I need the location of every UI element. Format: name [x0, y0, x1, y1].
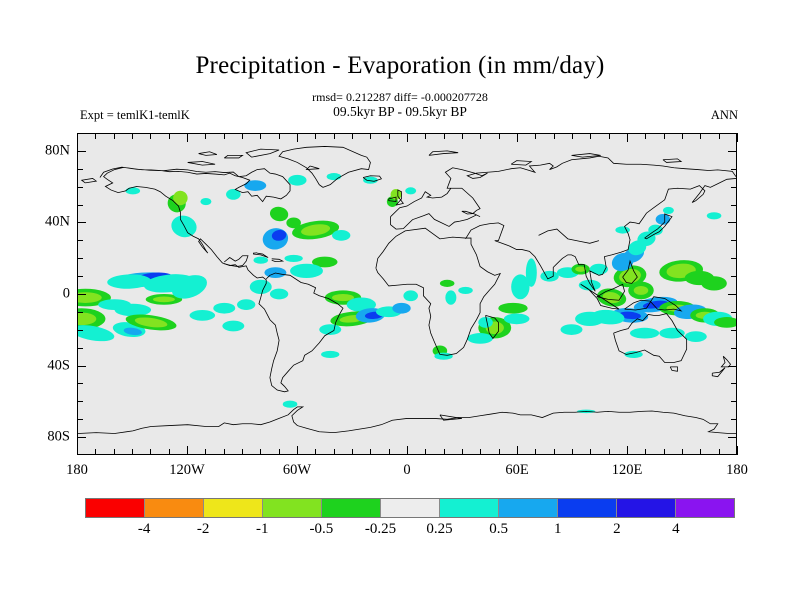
map-plot-area [77, 133, 737, 455]
chart-title: Precipitation - Evaporation (in mm/day) [0, 52, 800, 80]
colorbar-band-10 [675, 499, 734, 517]
x-axis-label-0: 0 [403, 462, 410, 479]
anomaly-contour-region [213, 303, 235, 314]
y-tick-right [731, 330, 737, 331]
coastline-segment [511, 161, 531, 165]
anomaly-contour-region [458, 287, 473, 294]
anomaly-contour-region [701, 276, 727, 290]
coastline-segment [246, 149, 279, 157]
colorbar-band-6 [439, 499, 498, 517]
anomaly-contour-region [685, 331, 707, 342]
x-tick-top [169, 133, 170, 139]
coastline-segment [429, 151, 458, 155]
x-tick-bottom [224, 449, 225, 455]
anomaly-contour-region [270, 289, 288, 300]
y-axis-label-40N: 40N [28, 214, 70, 231]
x-tick-bottom [590, 449, 591, 455]
x-tick-top [297, 133, 298, 142]
x-tick-top [279, 133, 280, 139]
anomaly-contour-region [504, 313, 530, 324]
x-tick-bottom [389, 449, 390, 455]
anomaly-contour-region [467, 333, 493, 344]
x-tick-top [352, 133, 353, 139]
y-tick-right [728, 222, 737, 223]
x-tick-bottom [315, 449, 316, 455]
x-axis-label-120W: 120W [169, 462, 204, 479]
y-tick-right [731, 205, 737, 206]
coastline-segment [224, 155, 242, 158]
x-tick-bottom [627, 446, 628, 455]
world-map-svg [78, 134, 736, 454]
anomaly-contour-region [403, 290, 418, 301]
y-tick-right [731, 401, 737, 402]
x-tick-top [682, 133, 683, 139]
colorbar-tick-1: 1 [554, 521, 562, 538]
anomaly-contour-region [200, 198, 211, 205]
x-tick-top [205, 133, 206, 139]
y-axis-label-40S: 40S [28, 357, 70, 374]
x-tick-top [499, 133, 500, 139]
colorbar-band-8 [557, 499, 616, 517]
anomaly-contour-region [250, 280, 272, 294]
y-tick-left [77, 348, 83, 349]
colorbar-band-0 [86, 499, 144, 517]
y-tick-left [77, 205, 83, 206]
x-tick-top [260, 133, 261, 139]
y-tick-right [731, 348, 737, 349]
anomaly-contour-region [321, 351, 339, 358]
x-tick-top [609, 133, 610, 139]
x-tick-top [114, 133, 115, 139]
colorbar-tick--0.25: -0.25 [365, 521, 396, 538]
anomaly-contour-region [575, 312, 604, 326]
y-tick-left [77, 222, 86, 223]
coastline-segment [199, 152, 217, 156]
y-tick-right [731, 240, 737, 241]
x-tick-bottom [645, 449, 646, 455]
colorbar-band-2 [203, 499, 262, 517]
x-tick-top [444, 133, 445, 139]
anomaly-contour-region [392, 303, 410, 314]
x-tick-bottom [407, 446, 408, 455]
colorbar-tick-4: 4 [672, 521, 680, 538]
coastline-segment [391, 156, 736, 229]
x-tick-bottom [77, 446, 78, 455]
colorbar-tick-0.25: 0.25 [426, 521, 452, 538]
anomaly-contour-region [253, 257, 268, 264]
colorbar-tick-0.5: 0.5 [489, 521, 508, 538]
x-tick-bottom [132, 449, 133, 455]
coastline-segment [272, 259, 283, 262]
x-tick-top [407, 133, 408, 142]
anomaly-contour-region [237, 299, 255, 310]
x-tick-bottom [114, 449, 115, 455]
colorbar-band-9 [616, 499, 675, 517]
x-tick-top [627, 133, 628, 142]
x-tick-top [590, 133, 591, 139]
coastline-segment [440, 415, 462, 420]
x-axis-label-120E: 120E [612, 462, 643, 479]
y-tick-left [77, 258, 83, 259]
y-tick-left [77, 401, 83, 402]
anomaly-contour-region [153, 296, 175, 302]
x-tick-top [370, 133, 371, 139]
x-tick-bottom [187, 446, 188, 455]
x-tick-top [334, 133, 335, 139]
x-tick-bottom [572, 449, 573, 455]
anomaly-contour-region [478, 317, 493, 328]
coastline-segment [82, 178, 97, 182]
y-tick-left [77, 437, 86, 438]
y-tick-right [728, 151, 737, 152]
y-tick-right [728, 437, 737, 438]
x-tick-top [554, 133, 555, 139]
y-tick-left [77, 276, 83, 277]
y-tick-right [728, 366, 737, 367]
y-axis-label-80S: 80S [28, 429, 70, 446]
coastline-segment [663, 159, 681, 163]
x-tick-bottom [664, 449, 665, 455]
x-tick-bottom [462, 449, 463, 455]
x-tick-bottom [609, 449, 610, 455]
x-tick-bottom [279, 449, 280, 455]
anomaly-contour-region [222, 321, 244, 332]
x-tick-top [425, 133, 426, 139]
x-tick-bottom [700, 449, 701, 455]
anomaly-contour-region [434, 353, 452, 360]
y-tick-left [77, 151, 86, 152]
anomaly-contour-region [659, 328, 685, 339]
anomaly-contour-region [440, 280, 455, 287]
x-tick-bottom [554, 449, 555, 455]
x-tick-bottom [682, 449, 683, 455]
anomaly-contour-region [540, 271, 558, 282]
x-tick-top [389, 133, 390, 139]
anomaly-contour-region [707, 212, 722, 219]
y-tick-left [77, 330, 83, 331]
y-tick-right [731, 419, 737, 420]
anomaly-contour-region [115, 304, 151, 317]
x-tick-top [132, 133, 133, 139]
anomaly-contour-region [363, 177, 378, 184]
colorbar-tick--0.5: -0.5 [309, 521, 333, 538]
anomaly-contour-region [288, 175, 306, 186]
x-tick-top [224, 133, 225, 139]
x-tick-bottom [260, 449, 261, 455]
y-tick-right [731, 383, 737, 384]
x-tick-bottom [444, 449, 445, 455]
y-tick-left [77, 312, 83, 313]
anomaly-contour-region [526, 258, 537, 286]
anomaly-contour-region [327, 173, 342, 180]
x-tick-bottom [480, 449, 481, 455]
x-tick-bottom [205, 449, 206, 455]
x-tick-top [737, 133, 738, 142]
y-tick-left [77, 366, 86, 367]
coastline-segment [712, 368, 725, 377]
x-axis-label-180: 180 [726, 462, 748, 479]
x-tick-bottom [150, 449, 151, 455]
y-tick-left [77, 383, 83, 384]
figure-canvas: Precipitation - Evaporation (in mm/day) … [0, 0, 800, 600]
x-tick-bottom [95, 449, 96, 455]
anomaly-contour-region [561, 324, 583, 335]
colorbar-band-4 [321, 499, 380, 517]
y-axis-label-0: 0 [28, 286, 70, 303]
stats-annotation: rmsd= 0.212287 diff= -0.000207728 [0, 90, 800, 105]
x-tick-top [517, 133, 518, 142]
x-tick-top [535, 133, 536, 139]
colorbar-band-7 [498, 499, 557, 517]
experiment-annotation: Expt = temlK1-temlK [80, 108, 190, 123]
colorbar-band-5 [380, 499, 439, 517]
x-tick-top [572, 133, 573, 139]
x-tick-bottom [169, 449, 170, 455]
anomaly-contour-region [126, 187, 141, 194]
coastline-segment [188, 162, 215, 166]
x-tick-bottom [242, 449, 243, 455]
x-tick-bottom [535, 449, 536, 455]
colorbar-band-1 [144, 499, 203, 517]
x-tick-top [462, 133, 463, 139]
x-tick-top [664, 133, 665, 139]
x-tick-top [187, 133, 188, 142]
anomaly-field-layer [78, 173, 736, 413]
anomaly-contour-region [283, 401, 298, 408]
x-tick-bottom [719, 449, 720, 455]
anomaly-contour-region [663, 207, 674, 214]
colorbar-tick--4: -4 [138, 521, 151, 538]
x-tick-bottom [370, 449, 371, 455]
colorbar-tick--2: -2 [197, 521, 210, 538]
x-tick-bottom [352, 449, 353, 455]
anomaly-contour-region [405, 187, 416, 194]
x-tick-top [645, 133, 646, 139]
x-axis-label-60W: 60W [283, 462, 311, 479]
anomaly-contour-region [498, 303, 527, 314]
x-tick-bottom [499, 449, 500, 455]
y-tick-right [731, 276, 737, 277]
y-tick-right [731, 187, 737, 188]
anomaly-contour-region [284, 255, 302, 262]
anomaly-contour-region [169, 213, 199, 240]
x-tick-bottom [517, 446, 518, 455]
y-tick-right [731, 258, 737, 259]
y-axis-label-80N: 80N [28, 142, 70, 159]
x-tick-bottom [425, 449, 426, 455]
x-tick-bottom [334, 449, 335, 455]
x-tick-bottom [737, 446, 738, 455]
x-tick-top [150, 133, 151, 139]
anomaly-contour-region [445, 290, 456, 304]
anomaly-contour-region [269, 205, 290, 222]
x-tick-top [480, 133, 481, 139]
x-axis-label-180: 180 [66, 462, 88, 479]
coastline-segment [670, 367, 677, 371]
y-tick-left [77, 169, 83, 170]
anomaly-contour-region [190, 310, 216, 321]
y-tick-left [77, 294, 86, 295]
anomaly-contour-region [319, 324, 341, 335]
colorbar[interactable] [85, 498, 735, 518]
x-axis-label-60E: 60E [505, 462, 528, 479]
anomaly-contour-region [630, 328, 659, 339]
coastline-segment [78, 407, 736, 434]
anomaly-contour-region [290, 264, 323, 278]
x-tick-top [242, 133, 243, 139]
y-tick-left [77, 419, 83, 420]
x-tick-top [719, 133, 720, 139]
season-annotation: ANN [711, 108, 738, 123]
x-tick-top [315, 133, 316, 139]
y-tick-right [731, 312, 737, 313]
coastline-segment [539, 229, 599, 243]
x-tick-top [95, 133, 96, 139]
anomaly-contour-region [332, 230, 350, 241]
coastline-segment [307, 166, 320, 170]
colorbar-tick--1: -1 [256, 521, 269, 538]
colorbar-tick-2: 2 [613, 521, 621, 538]
y-tick-left [77, 187, 83, 188]
x-tick-top [700, 133, 701, 139]
y-tick-left [77, 240, 83, 241]
colorbar-band-3 [262, 499, 321, 517]
y-tick-right [731, 169, 737, 170]
y-tick-right [728, 294, 737, 295]
anomaly-contour-region [244, 180, 266, 191]
anomaly-contour-region [634, 286, 649, 295]
x-tick-bottom [297, 446, 298, 455]
x-tick-top [77, 133, 78, 142]
